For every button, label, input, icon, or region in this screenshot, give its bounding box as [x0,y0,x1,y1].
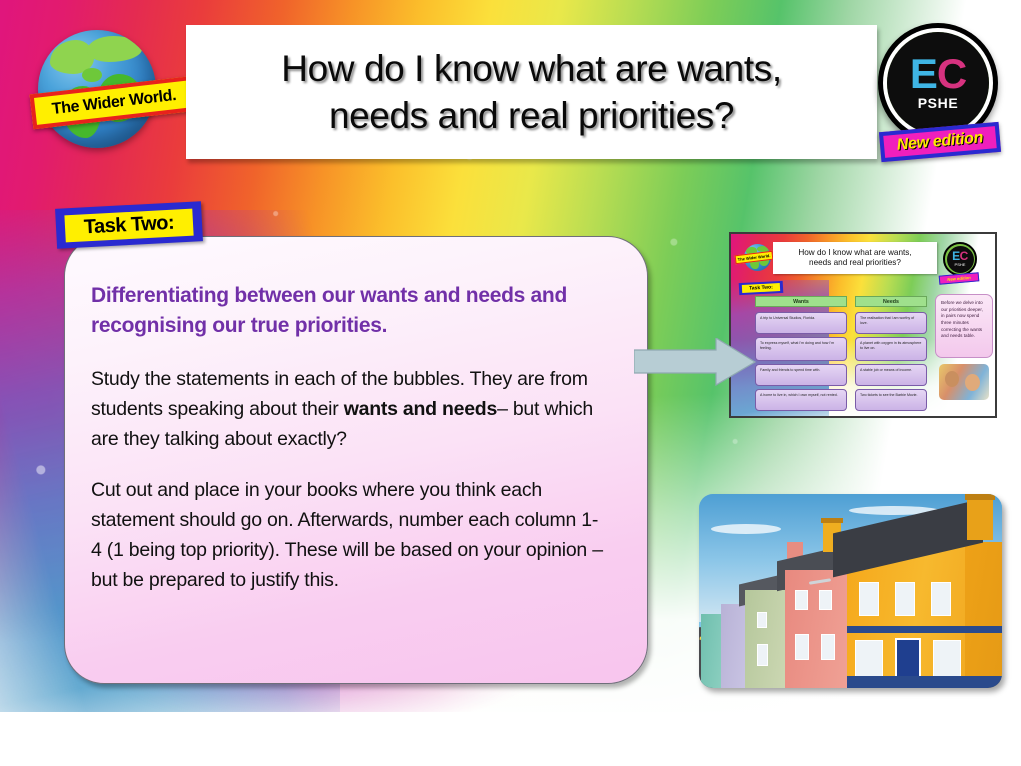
thumbnail-bubble-needs-2: A planet with oxygen in its atmosphere t… [855,337,927,361]
photo-window [855,640,883,678]
thumbnail-task-label: Task Two: [742,283,780,293]
arrow-right-icon [634,338,756,386]
ec-logo-letters: EC [910,55,966,94]
wider-world-logo: The Wider World. [31,25,162,162]
thumbnail-people-photo [939,364,989,400]
slide-title-bar: How do I know what are wants, needs and … [186,25,877,159]
thumbnail-bubble-wants-2: To express myself, what I'm doing and ho… [755,337,847,361]
thumbnail-ec-logo: EC PSHE [943,242,977,276]
photo-window [895,582,915,616]
thumbnail-bubble-wants-1: A trip to Universal Studios, Florida. [755,312,847,334]
ec-logo-subtitle: PSHE [918,95,959,111]
ec-logo-letter-e: E [910,50,937,97]
task-instructions-panel: Differentiating between our wants and ne… [64,236,648,684]
thumbnail-title-line-2: needs and real priorities? [798,258,911,268]
photo-blue-plinth [847,676,1002,688]
photo-window [859,582,879,616]
pointer-arrow [634,338,756,386]
photo-chimney-yellow-large [967,498,993,540]
photo-house-green [745,590,789,688]
thumbnail-title-line-1: How do I know what are wants, [798,248,911,258]
task-heading: Differentiating between our wants and ne… [91,281,607,342]
thumbnail-bubble-needs-4: Two tickets to see the Barbie Movie. [855,389,927,411]
photo-window [821,634,835,660]
thumbnail-task-badge: Task Two: [739,281,784,295]
ec-logo-letter-c: C [937,50,966,97]
photo-window [757,644,768,666]
photo-house-pink [785,570,851,688]
task-two-badge: Task Two: [55,201,203,249]
page-title: How do I know what are wants, needs and … [267,45,795,140]
page-title-line-1: How do I know what are wants, [281,45,781,92]
thumbnail-bubble-wants-4: A home to live in, which I own myself, n… [755,389,847,411]
thumbnail-note-panel: Before we delve into our priorities deep… [935,294,993,358]
thumbnail-bubble-needs-3: A stable job or means of income. [855,364,927,386]
ec-pshe-logo: EC PSHE New edition [866,17,1012,167]
photo-window [795,634,809,660]
thumbnail-ec-subtitle: PSHE [955,262,966,267]
task-two-badge-inner: Task Two: [64,208,193,242]
task-paragraph-1: Study the statements in each of the bubb… [91,364,607,455]
wider-world-banner-label: The Wider World. [51,86,177,118]
task-paragraph-1-bold: wants and needs [344,398,497,420]
thumbnail-ec-logo-inner: EC PSHE [947,246,974,273]
ec-logo-inner: EC PSHE [887,32,989,134]
task-two-label: Task Two: [83,211,174,239]
new-edition-label: New edition [896,129,984,154]
task-paragraph-2: Cut out and place in your books where yo… [91,475,607,596]
photo-window [795,590,808,610]
photo-cloud [711,524,781,534]
slide-thumbnail-preview[interactable]: The Wider World. How do I know what are … [729,232,997,418]
thumbnail-bubble-wants-3: Family and friends to spend time with. [755,364,847,386]
thumbnail-column-header-wants: Wants [755,296,847,307]
thumbnail-bubble-needs-1: The realisation that I am worthy of love… [855,312,927,334]
thumbnail-column-header-needs: Needs [855,296,927,307]
thumbnail-title: How do I know what are wants, needs and … [773,242,937,274]
page-title-line-2: needs and real priorities? [281,92,781,139]
photo-window [819,590,832,610]
photo-window [933,640,961,678]
photo-window [931,582,951,616]
photo-blue-band [847,626,1002,633]
colourful-houses-photo [699,494,1002,688]
slide-canvas: The Wider World. How do I know what are … [0,0,1021,766]
photo-window [757,612,767,628]
